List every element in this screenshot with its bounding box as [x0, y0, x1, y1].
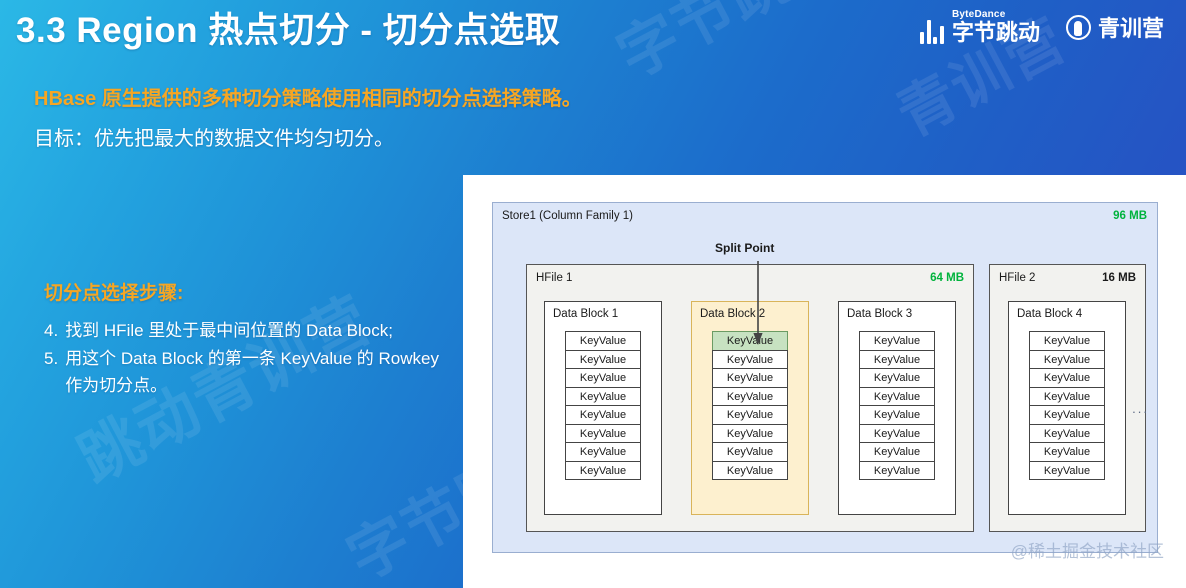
hfile-size-badge: 64 MB — [930, 272, 964, 284]
step-item: 5. 用这个 Data Block 的第一条 KeyValue 的 Rowkey… — [44, 345, 444, 400]
keyvalue-row-split-point: KeyValue — [712, 331, 788, 351]
keyvalue-row: KeyValue — [859, 405, 935, 425]
lead-statement-highlight: HBase 原生提供的多种切分策略使用相同的切分点选择策略。 — [34, 82, 582, 111]
source-watermark: @稀土掘金技术社区 — [1011, 537, 1164, 562]
keyvalue-row: KeyValue — [712, 368, 788, 388]
lead-statement-goal: 目标：优先把最大的数据文件均匀切分。 — [34, 122, 394, 151]
bytedance-logo: ByteDance 字节跳动 — [920, 10, 1040, 44]
qingxunying-logo: 青训营 — [1066, 11, 1164, 43]
keyvalue-row: KeyValue — [565, 424, 641, 444]
data-block-label: Data Block 3 — [847, 308, 912, 320]
more-hfiles-ellipsis: ... — [1132, 401, 1149, 416]
keyvalue-row: KeyValue — [1029, 405, 1105, 425]
store-label: Store1 (Column Family 1) — [502, 210, 633, 222]
keyvalue-row: KeyValue — [712, 350, 788, 370]
keyvalue-row: KeyValue — [1029, 424, 1105, 444]
keyvalue-row: KeyValue — [1029, 442, 1105, 462]
step-number: 4. — [44, 317, 58, 345]
keyvalue-row: KeyValue — [565, 442, 641, 462]
bytedance-wordmark: ByteDance 字节跳动 — [952, 10, 1040, 44]
data-block-label: Data Block 1 — [553, 308, 618, 320]
keyvalue-row: KeyValue — [712, 387, 788, 407]
background-watermark: 字节跳动 — [600, 0, 860, 95]
slide-root: 字节跳动 青训营 跳动青训营 字节跳动 青训营 3.3 Region 热点切分 … — [0, 0, 1186, 588]
keyvalue-row: KeyValue — [859, 387, 935, 407]
split-point-arrow-icon — [751, 261, 765, 347]
keyvalue-row: KeyValue — [859, 368, 935, 388]
keyvalue-row: KeyValue — [565, 387, 641, 407]
bytedance-logo-cn: 字节跳动 — [952, 22, 1040, 44]
keyvalue-row: KeyValue — [1029, 387, 1105, 407]
keyvalue-row: KeyValue — [1029, 331, 1105, 351]
bar-chart-icon — [920, 20, 944, 44]
keyvalue-row: KeyValue — [859, 461, 935, 481]
page-title: 3.3 Region 热点切分 - 切分点选取 — [16, 2, 560, 53]
keyvalue-row: KeyValue — [712, 442, 788, 462]
diagram-panel: Store1 (Column Family 1) 96 MB Split Poi… — [463, 175, 1186, 588]
step-text: 找到 HFile 里处于最中间位置的 Data Block; — [65, 317, 444, 345]
keyvalue-row: KeyValue — [565, 368, 641, 388]
store-container: Store1 (Column Family 1) 96 MB Split Poi… — [492, 202, 1158, 553]
split-point-label: Split Point — [715, 241, 774, 255]
hfile-container: HFile 1 64 MB Data Block 1 KeyValue KeyV… — [526, 264, 974, 532]
data-block-label: Data Block 4 — [1017, 308, 1082, 320]
keyvalue-row: KeyValue — [565, 405, 641, 425]
hfile-label: HFile 2 — [999, 272, 1035, 284]
keyvalue-stack: KeyValue KeyValue KeyValue KeyValue KeyV… — [859, 331, 935, 480]
keyvalue-row: KeyValue — [565, 461, 641, 481]
hfile-size-badge: 16 MB — [1102, 272, 1136, 284]
data-block: Data Block 1 KeyValue KeyValue KeyValue … — [544, 301, 662, 515]
keyvalue-stack: KeyValue KeyValue KeyValue KeyValue KeyV… — [1029, 331, 1105, 480]
step-number: 5. — [44, 345, 58, 400]
keyvalue-row: KeyValue — [1029, 368, 1105, 388]
data-block-split-target: Data Block 2 KeyValue KeyValue KeyValue … — [691, 301, 809, 515]
keyvalue-row: KeyValue — [712, 424, 788, 444]
keyvalue-stack: KeyValue KeyValue KeyValue KeyValue KeyV… — [565, 331, 641, 480]
keyvalue-row: KeyValue — [859, 350, 935, 370]
hfile-label: HFile 1 — [536, 272, 572, 284]
keyvalue-row: KeyValue — [859, 442, 935, 462]
steps-section: 切分点选择步骤: 4. 找到 HFile 里处于最中间位置的 Data Bloc… — [44, 278, 444, 400]
keyvalue-row: KeyValue — [859, 424, 935, 444]
keyvalue-row: KeyValue — [565, 350, 641, 370]
keyvalue-row: KeyValue — [859, 331, 935, 351]
step-item: 4. 找到 HFile 里处于最中间位置的 Data Block; — [44, 317, 444, 345]
qingxunying-logo-cn: 青训营 — [1098, 11, 1164, 43]
keyvalue-row: KeyValue — [1029, 350, 1105, 370]
hfile-container: HFile 2 16 MB Data Block 4 KeyValue KeyV… — [989, 264, 1146, 532]
brand-logos: ByteDance 字节跳动 青训营 — [920, 10, 1164, 44]
keyvalue-row: KeyValue — [712, 405, 788, 425]
keyvalue-row: KeyValue — [712, 461, 788, 481]
data-block: Data Block 3 KeyValue KeyValue KeyValue … — [838, 301, 956, 515]
keyvalue-row: KeyValue — [1029, 461, 1105, 481]
bytedance-logo-en: ByteDance — [952, 10, 1040, 20]
step-text: 用这个 Data Block 的第一条 KeyValue 的 Rowkey 作为… — [65, 345, 444, 400]
keyvalue-stack: KeyValue KeyValue KeyValue KeyValue KeyV… — [712, 331, 788, 480]
person-circle-icon — [1066, 15, 1091, 40]
steps-heading: 切分点选择步骤: — [44, 278, 444, 305]
data-block: Data Block 4 KeyValue KeyValue KeyValue … — [1008, 301, 1126, 515]
store-size-badge: 96 MB — [1113, 210, 1147, 222]
keyvalue-row: KeyValue — [565, 331, 641, 351]
